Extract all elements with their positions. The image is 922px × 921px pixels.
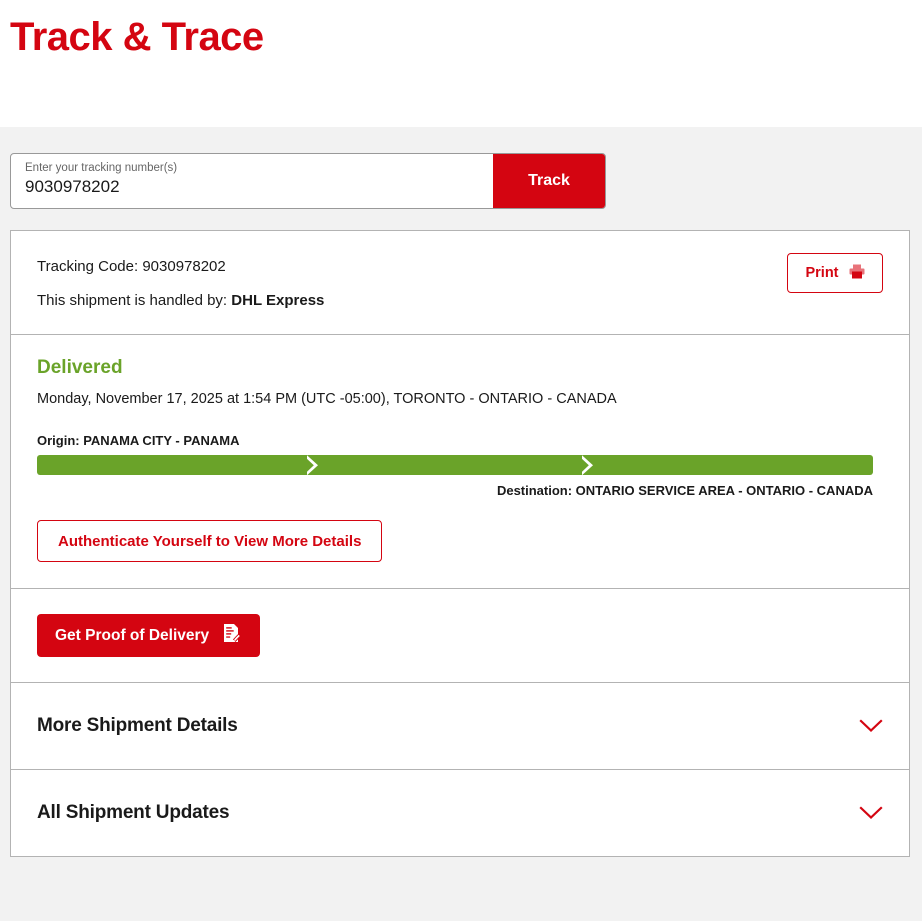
progress-segment-2	[318, 455, 583, 475]
proof-of-delivery-section: Get Proof of Delivery	[11, 589, 909, 682]
handled-by-carrier: DHL Express	[231, 292, 324, 309]
accordion-more-shipment-details[interactable]: More Shipment Details	[11, 683, 909, 769]
status-badge: Delivered	[37, 357, 883, 380]
accordion-label: More Shipment Details	[37, 715, 238, 737]
accordion-all-shipment-updates[interactable]: All Shipment Updates	[11, 770, 909, 856]
tracking-number-input[interactable]	[25, 176, 479, 197]
tracking-search-box: Enter your tracking number(s) Track	[10, 153, 606, 209]
page-title: Track & Trace	[10, 12, 264, 62]
pod-button-label: Get Proof of Delivery	[55, 627, 209, 645]
tracking-code-text: Tracking Code: 9030978202	[37, 256, 324, 278]
printer-icon	[849, 264, 865, 283]
shipment-progress-bar: Origin: PANAMA CITY - PANAMA Destination…	[37, 433, 883, 498]
page-body: Enter your tracking number(s) Track Trac…	[0, 127, 922, 921]
progress-notch-2	[583, 455, 593, 475]
handled-by-text: This shipment is handled by: DHL Express	[37, 290, 324, 312]
print-button-label: Print	[805, 265, 838, 281]
chevron-down-icon[interactable]	[859, 806, 883, 820]
authenticate-button[interactable]: Authenticate Yourself to View More Detai…	[37, 520, 382, 562]
get-proof-of-delivery-button[interactable]: Get Proof of Delivery	[37, 614, 260, 657]
tracking-code-lines: Tracking Code: 9030978202 This shipment …	[37, 253, 324, 312]
destination-label: Destination: ONTARIO SERVICE AREA - ONTA…	[37, 483, 873, 498]
handled-by-prefix: This shipment is handled by:	[37, 292, 227, 309]
page-header: Track & Trace	[0, 0, 922, 127]
print-button[interactable]: Print	[787, 253, 883, 293]
tracking-search-area: Enter your tracking number(s) Track	[10, 127, 912, 209]
progress-track	[37, 455, 873, 475]
progress-segment-3	[593, 455, 873, 475]
shipment-result-card: Tracking Code: 9030978202 This shipment …	[10, 230, 910, 857]
progress-notch-1	[308, 455, 318, 475]
document-signature-icon	[223, 623, 242, 648]
tracking-input-wrapper[interactable]: Enter your tracking number(s)	[11, 154, 493, 208]
tracking-input-label: Enter your tracking number(s)	[25, 161, 479, 176]
status-detail-text: Monday, November 17, 2025 at 1:54 PM (UT…	[37, 391, 883, 407]
accordion-label: All Shipment Updates	[37, 802, 229, 824]
progress-segment-1	[37, 455, 308, 475]
shipment-status-section: Delivered Monday, November 17, 2025 at 1…	[11, 335, 909, 589]
chevron-down-icon[interactable]	[859, 719, 883, 733]
track-button[interactable]: Track	[493, 154, 605, 208]
origin-label: Origin: PANAMA CITY - PANAMA	[37, 433, 883, 448]
tracking-code-section: Tracking Code: 9030978202 This shipment …	[11, 231, 909, 334]
